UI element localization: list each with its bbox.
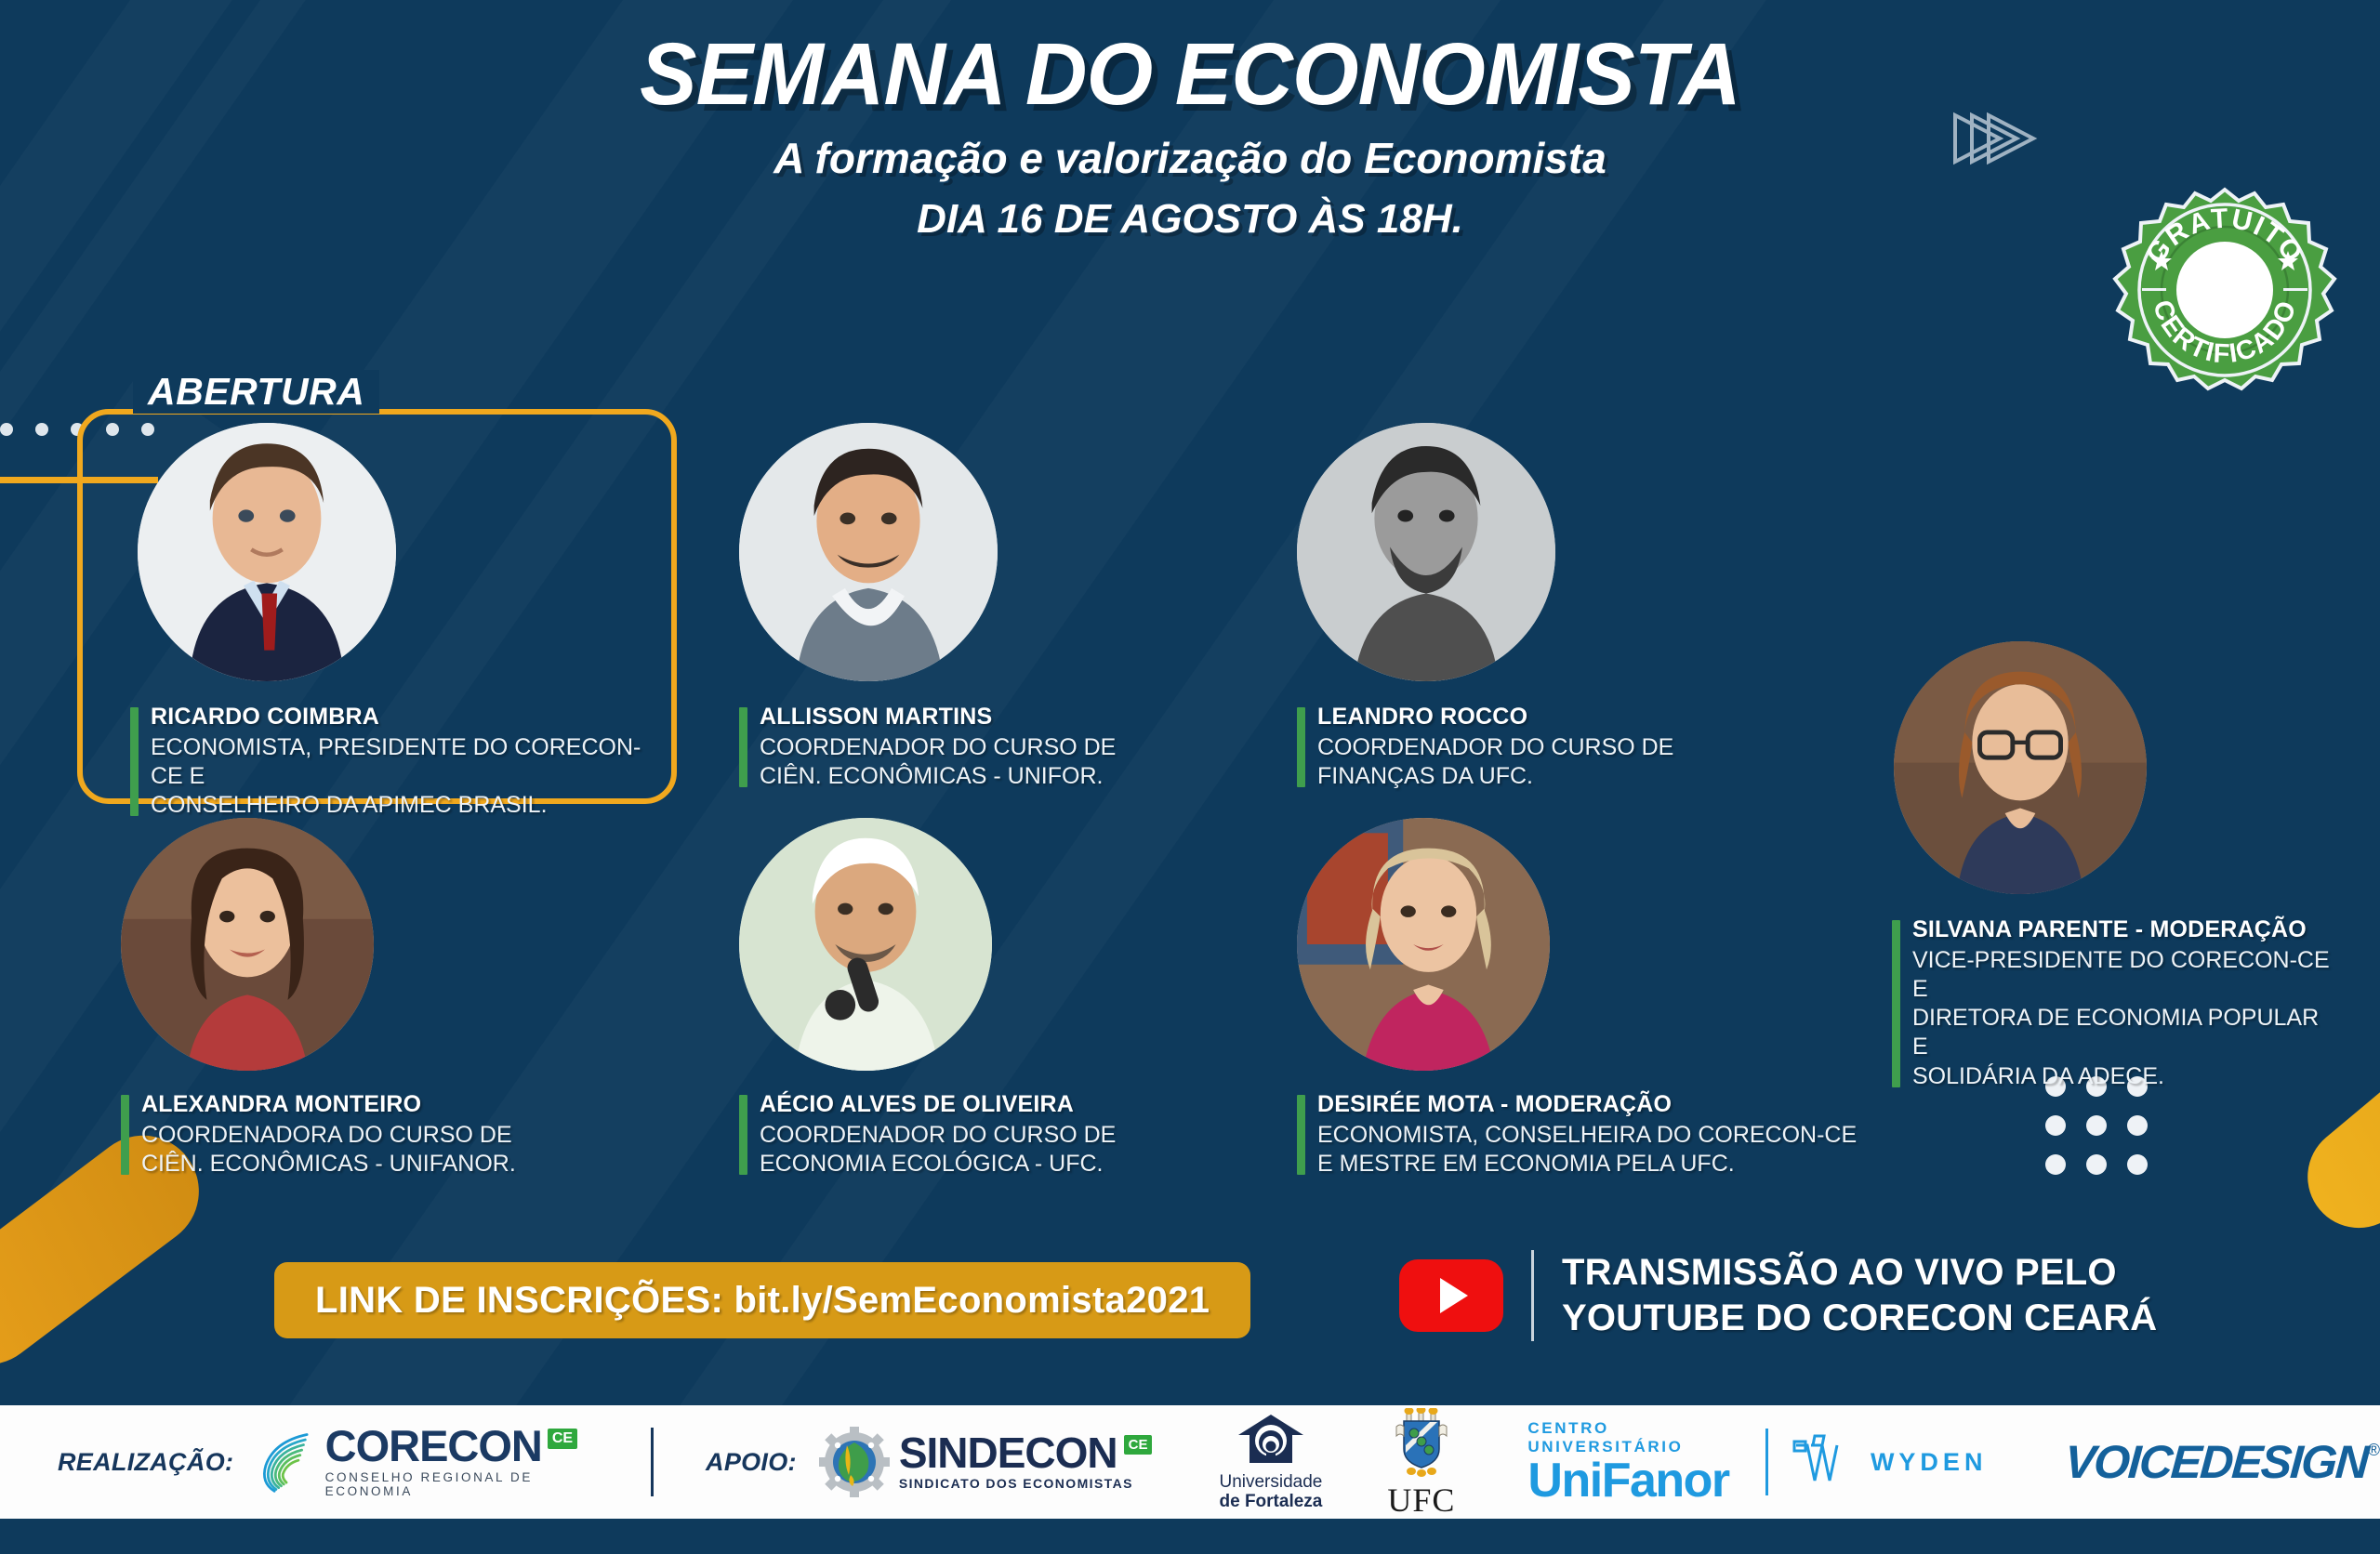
avatar	[121, 818, 374, 1071]
broadcast-line-1: TRANSMISSÃO AO VIVO PELO	[1562, 1250, 2157, 1296]
avatar	[739, 423, 998, 681]
unifanor-eyebrow: CENTRO UNIVERSITÁRIO	[1527, 1419, 1747, 1456]
registration-link-button[interactable]: LINK DE INSCRIÇÕES: bit.ly/SemEconomista…	[274, 1262, 1250, 1338]
abertura-label: ABERTURA	[133, 370, 379, 414]
speaker-name: LEANDRO ROCCO	[1317, 704, 1818, 731]
corecon-tagline: CONSELHO REGIONAL DE ECONOMIA	[325, 1470, 603, 1498]
corecon-state-tag: CE	[548, 1429, 577, 1449]
sponsor-footer: REALIZAÇÃO: CORECON CE CONSELHO REGIONAL…	[0, 1405, 2380, 1519]
dot-grid-decoration	[2045, 1076, 2168, 1193]
ufc-logo: UFC	[1387, 1408, 1455, 1517]
speaker-card: ALEXANDRA MONTEIRO COORDENADORA DO CURSO…	[121, 818, 641, 1179]
page-title: SEMANA DO ECONOMISTA	[35, 24, 2344, 125]
speaker-card: ALLISSON MARTINS COORDENADOR DO CURSO DE…	[739, 423, 1260, 791]
corecon-logo: CORECON CE CONSELHO REGIONAL DE ECONOMIA	[254, 1425, 602, 1499]
voicedesign-registered-mark: ®	[2368, 1441, 2380, 1460]
speaker-role: VICE-PRESIDENTE DO CORECON-CE E DIRETORA…	[1912, 946, 2338, 1091]
certificate-badge: GRATUITO CERTIFICADO	[2109, 186, 2341, 418]
voicedesign-wordmark: VOICEDESIGN	[2063, 1435, 2369, 1489]
speaker-role: COORDENADOR DO CURSO DE ECONOMIA ECOLÓGI…	[760, 1121, 1260, 1179]
realizacao-group: REALIZAÇÃO: CORECON CE CONSELHO REGIONAL…	[58, 1425, 602, 1499]
speaker-name: AÉCIO ALVES DE OLIVEIRA	[760, 1091, 1260, 1119]
sindecon-logo: SINDECON CE SINDICATO DOS ECONOMISTAS	[819, 1427, 1153, 1497]
wyden-wordmark: WYDEN	[1871, 1448, 1988, 1477]
event-datetime: DIA 16 DE AGOSTO ÀS 18H.	[0, 196, 2380, 243]
corecon-swoosh-icon	[254, 1425, 315, 1499]
speaker-name: ALEXANDRA MONTEIRO	[141, 1091, 641, 1119]
divider	[651, 1428, 654, 1496]
footer-bottom-strip	[0, 1519, 2380, 1554]
unifanor-name-a: Uni	[1527, 1456, 1601, 1505]
speaker-card: DESIRÉE MOTA - MODERAÇÃO ECONOMISTA, CON…	[1297, 818, 1873, 1179]
broadcast-text: TRANSMISSÃO AO VIVO PELO YOUTUBE DO CORE…	[1562, 1250, 2157, 1341]
speaker-role: COORDENADOR DO CURSO DE FINANÇAS DA UFC.	[1317, 733, 1818, 792]
speaker-role: ECONOMISTA, CONSELHEIRA DO CORECON-CE E …	[1317, 1121, 1873, 1179]
avatar	[138, 423, 396, 681]
speaker-card: SILVANA PARENTE - MODERAÇÃO VICE-PRESIDE…	[1892, 641, 2338, 1091]
corecon-wordmark: CORECON	[325, 1426, 542, 1468]
speaker-card: RICARDO COIMBRA ECONOMISTA, PRESIDENTE D…	[130, 423, 651, 820]
avatar	[1894, 641, 2147, 894]
poster-header: SEMANA DO ECONOMISTA A formação e valori…	[0, 24, 2380, 243]
ufc-wordmark: UFC	[1387, 1483, 1455, 1517]
realizacao-label: REALIZAÇÃO:	[58, 1448, 233, 1477]
avatar	[1297, 818, 1550, 1071]
unifor-mark-icon	[1236, 1413, 1305, 1465]
speaker-card: AÉCIO ALVES DE OLIVEIRA COORDENADOR DO C…	[739, 818, 1260, 1179]
unifanor-wyden-logo: CENTRO UNIVERSITÁRIO Uni Fanor WYDEN	[1527, 1419, 1987, 1505]
page-subtitle: A formação e valorização do Economista	[0, 133, 2380, 183]
ufc-crest-icon	[1391, 1408, 1452, 1477]
speaker-role: ECONOMISTA, PRESIDENTE DO CORECON-CE E C…	[151, 733, 651, 821]
apoio-label: APOIO:	[706, 1448, 797, 1477]
speaker-name: RICARDO COIMBRA	[151, 704, 651, 731]
speaker-card: LEANDRO ROCCO COORDENADOR DO CURSO DE FI…	[1297, 423, 1818, 791]
speaker-role: COORDENADOR DO CURSO DE CIÊN. ECONÔMICAS…	[760, 733, 1260, 792]
avatar	[739, 818, 992, 1071]
avatar	[1297, 423, 1555, 681]
registration-link-label: LINK DE INSCRIÇÕES: bit.ly/SemEconomista…	[315, 1280, 1210, 1322]
wyden-mark-icon	[1787, 1432, 1861, 1492]
sindecon-wordmark: SINDECON	[899, 1433, 1117, 1474]
unifor-line-2: de Fortaleza	[1219, 1493, 1322, 1512]
sindecon-state-tag: CE	[1124, 1435, 1153, 1455]
speaker-name: SILVANA PARENTE - MODERAÇÃO	[1912, 916, 2338, 944]
apoio-group: APOIO:	[706, 1427, 1152, 1497]
broadcast-line-2: YOUTUBE DO CORECON CEARÁ	[1562, 1296, 2157, 1341]
unifanor-name-b: Fanor	[1602, 1456, 1729, 1505]
divider	[1531, 1250, 1534, 1341]
youtube-icon[interactable]	[1399, 1259, 1503, 1332]
unifor-logo: Universidade de Fortaleza	[1219, 1413, 1322, 1512]
youtube-broadcast-block: TRANSMISSÃO AO VIVO PELO YOUTUBE DO CORE…	[1399, 1250, 2157, 1341]
sindecon-gear-icon	[819, 1427, 890, 1497]
speaker-name: ALLISSON MARTINS	[760, 704, 1260, 731]
voicedesign-logo: VOICEDESIGN ®	[2065, 1435, 2380, 1489]
sindecon-tagline: SINDICATO DOS ECONOMISTAS	[899, 1476, 1153, 1491]
unifor-line-1: Universidade	[1219, 1473, 1322, 1493]
speaker-role: COORDENADORA DO CURSO DE CIÊN. ECONÔMICA…	[141, 1121, 641, 1179]
speaker-name: DESIRÉE MOTA - MODERAÇÃO	[1317, 1091, 1873, 1119]
